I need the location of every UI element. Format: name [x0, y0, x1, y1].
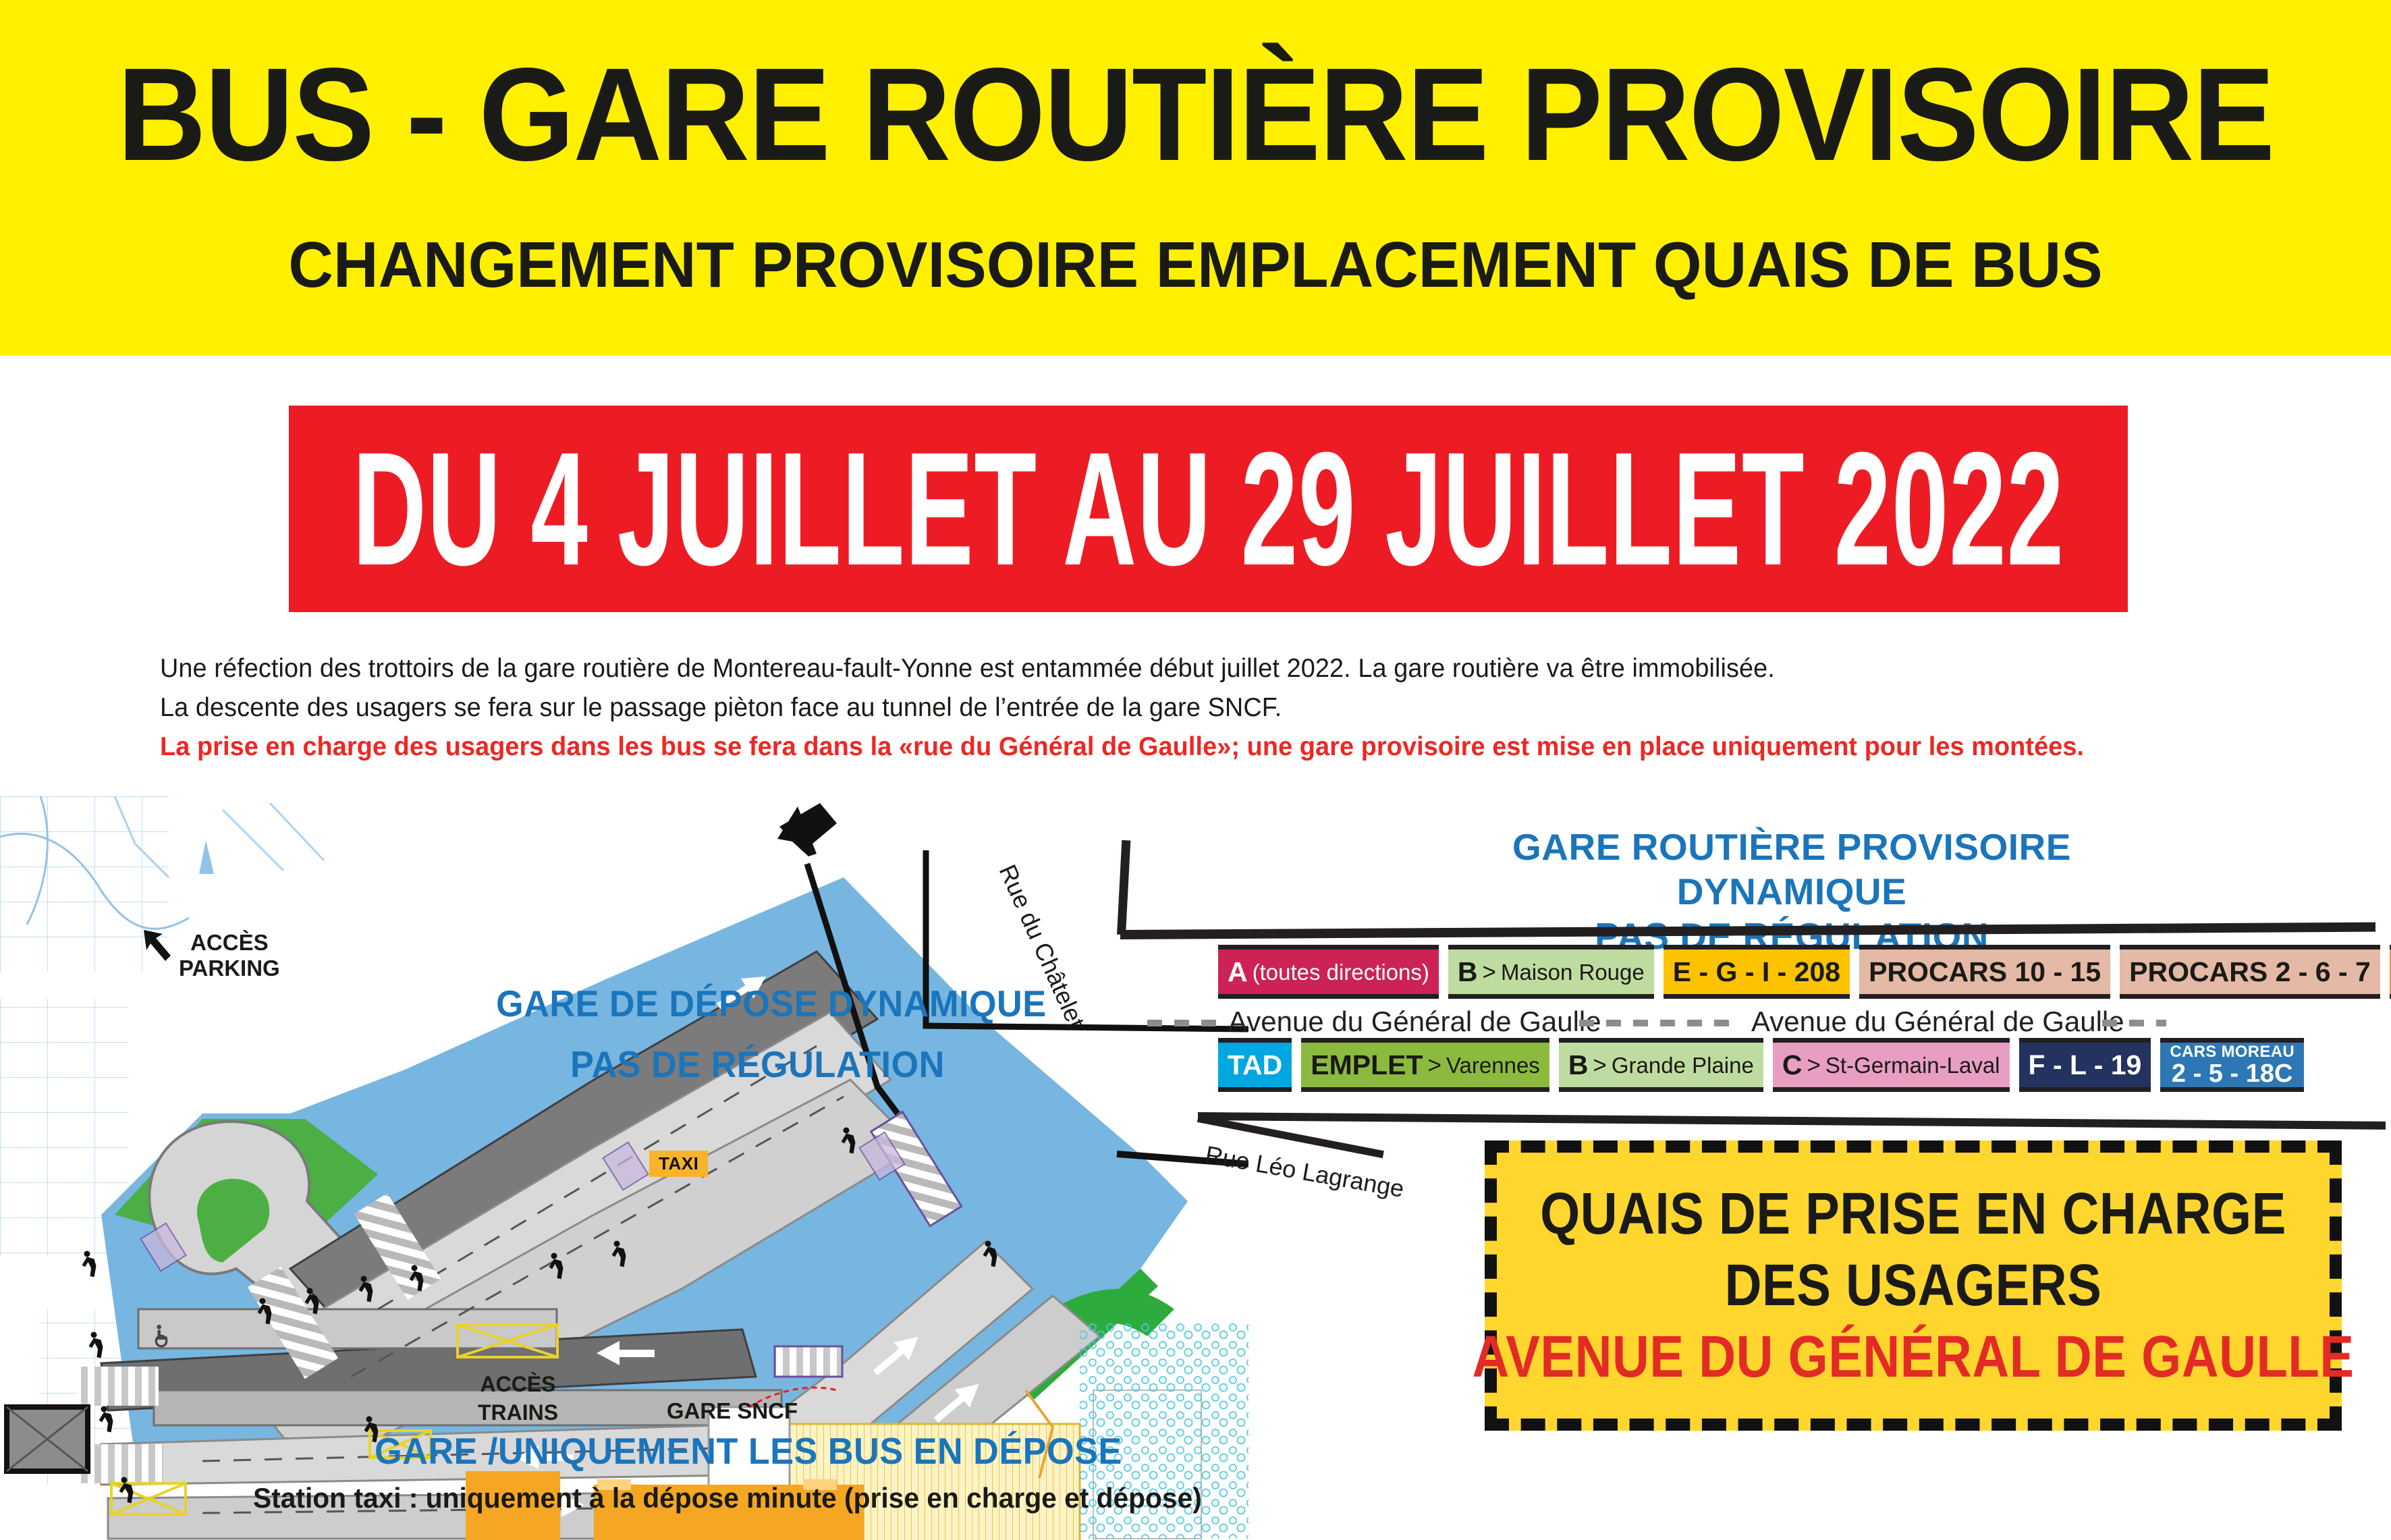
quais-line-2: DES USAGERS: [1725, 1256, 2102, 1315]
badge-code: TAD: [1228, 1051, 1282, 1079]
station-taxi-note: Station taxi : uniquement à la dépose mi…: [253, 1482, 1202, 1514]
date-banner-text: DU 4 JUILLET AU 29 JUILLET 2022: [352, 428, 2064, 589]
direction-arrow-north-shaft: [779, 803, 837, 852]
bus-line-badges-bottom-row: TADEMPLET>VarennesB>Grande PlaineC>St-Ge…: [1218, 1038, 2304, 1092]
street-outline-bottom: [1198, 1112, 2386, 1130]
badge-code: F - L - 19: [2029, 1051, 2142, 1079]
badge-destination: St-Germain-Laval: [1825, 1054, 2000, 1076]
badge-operator: CARS MOREAU: [2170, 1044, 2294, 1060]
badge-separator-icon: >: [1428, 1053, 1441, 1077]
badge-code: C: [1782, 1051, 1803, 1079]
bus-line-badge[interactable]: E - G - I - 208: [1664, 945, 1850, 999]
badge-destination: Grande Plaine: [1612, 1054, 1754, 1076]
quais-line-1: QUAIS DE PRISE EN CHARGE: [1540, 1184, 2286, 1243]
badge-destination: Maison Rouge: [1501, 961, 1645, 983]
acces-parking-arrow-icon: [138, 925, 179, 965]
bus-line-badge[interactable]: C>St-Germain-Laval: [1773, 1038, 2010, 1092]
badge-code: B: [1458, 958, 1478, 986]
bus-line-badge[interactable]: PROCARS 2 - 6 - 7: [2120, 945, 2380, 999]
bus-line-badge[interactable]: B>Maison Rouge: [1448, 945, 1654, 999]
badge-destination: Varennes: [1446, 1054, 1540, 1076]
intro-line-1: Une réfection des trottoirs de la gare r…: [160, 649, 2163, 688]
avenue-label-right: Avenue du Général de Gaulle: [1751, 1006, 2124, 1037]
intro-paragraph: Une réfection des trottoirs de la gare r…: [160, 649, 2225, 767]
page-title: BUS - GARE ROUTIÈRE PROVISOIRE: [84, 49, 2307, 181]
badge-separator-icon: >: [1483, 960, 1496, 984]
station-heading-line1: GARE ROUTIÈRE PROVISOIRE DYNAMIQUE: [1512, 826, 2071, 912]
badge-separator-icon: >: [1807, 1053, 1820, 1077]
header-banner: BUS - GARE ROUTIÈRE PROVISOIRE CHANGEMEN…: [0, 0, 2391, 356]
avenue-general-de-gaulle-centerline: Avenue du Général de Gaulle Avenue du Gé…: [1147, 1001, 2391, 1039]
date-banner: DU 4 JUILLET AU 29 JUILLET 2022: [289, 406, 2128, 612]
acces-parking-label: ACCÈS PARKING: [179, 930, 280, 981]
quais-line-3: AVENUE DU GÉNÉRAL DE GAULLE: [1472, 1327, 2354, 1386]
page-subtitle: CHANGEMENT PROVISOIRE EMPLACEMENT QUAIS …: [48, 233, 2343, 298]
map-drawing: [0, 796, 1248, 1540]
bus-line-badge[interactable]: F - L - 19: [2019, 1038, 2151, 1092]
bus-line-badges-top-row: A(toutes directions)B>Maison RougeE - G …: [1218, 945, 2391, 999]
bus-line-badge[interactable]: A(toutes directions): [1218, 945, 1439, 999]
intro-line-2: La descente des usagers se fera sur le p…: [160, 688, 2163, 727]
quais-callout-box: QUAIS DE PRISE EN CHARGE DES USAGERS AVE…: [1485, 1140, 2342, 1431]
badge-code: 2 - 5 - 18C: [2172, 1061, 2293, 1087]
badge-separator-icon: >: [1593, 1053, 1606, 1077]
acces-trains-label: ACCÈS TRAINS: [472, 1370, 564, 1427]
depose-heading-line2: PAS DE RÉGULATION: [570, 1043, 945, 1086]
badge-destination: (toutes directions): [1253, 961, 1429, 983]
badge-code: E - G - I - 208: [1673, 958, 1840, 986]
depose-heading-line1: GARE DE DÉPOSE DYNAMIQUE: [496, 982, 1047, 1025]
avenue-label-left: Avenue du Général de Gaulle: [1228, 1006, 1601, 1037]
badge-code: B: [1568, 1051, 1589, 1079]
station-heading: GARE ROUTIÈRE PROVISOIRE DYNAMIQUE PAS D…: [1421, 825, 2163, 958]
badge-code: EMPLET: [1311, 1051, 1423, 1079]
bus-line-badge[interactable]: PROCARS 10 - 15: [1859, 945, 2110, 999]
badge-code: A: [1228, 958, 1248, 986]
intro-line-3-highlight: La prise en charge des usagers dans les …: [160, 727, 2163, 767]
bus-line-badge[interactable]: B>Grande Plaine: [1559, 1038, 1763, 1092]
badge-code: PROCARS 10 - 15: [1869, 958, 2101, 986]
badge-code: PROCARS 2 - 6 - 7: [2129, 958, 2371, 986]
bus-line-badge[interactable]: EMPLET>Varennes: [1301, 1038, 1549, 1092]
bus-line-badge[interactable]: TAD: [1218, 1038, 1292, 1092]
bus-line-badge[interactable]: CARS MOREAU2 - 5 - 18C: [2160, 1038, 2304, 1092]
gare-uniquement-caption: GARE /UNIQUEMENT LES BUS EN DÉPOSE: [375, 1429, 1122, 1473]
parking-block: [7, 1407, 88, 1471]
taxi-station-marker: TAXI: [649, 1151, 708, 1177]
gare-sncf-label: GARE SNCF: [651, 1398, 813, 1424]
station-map: [0, 796, 1248, 1540]
